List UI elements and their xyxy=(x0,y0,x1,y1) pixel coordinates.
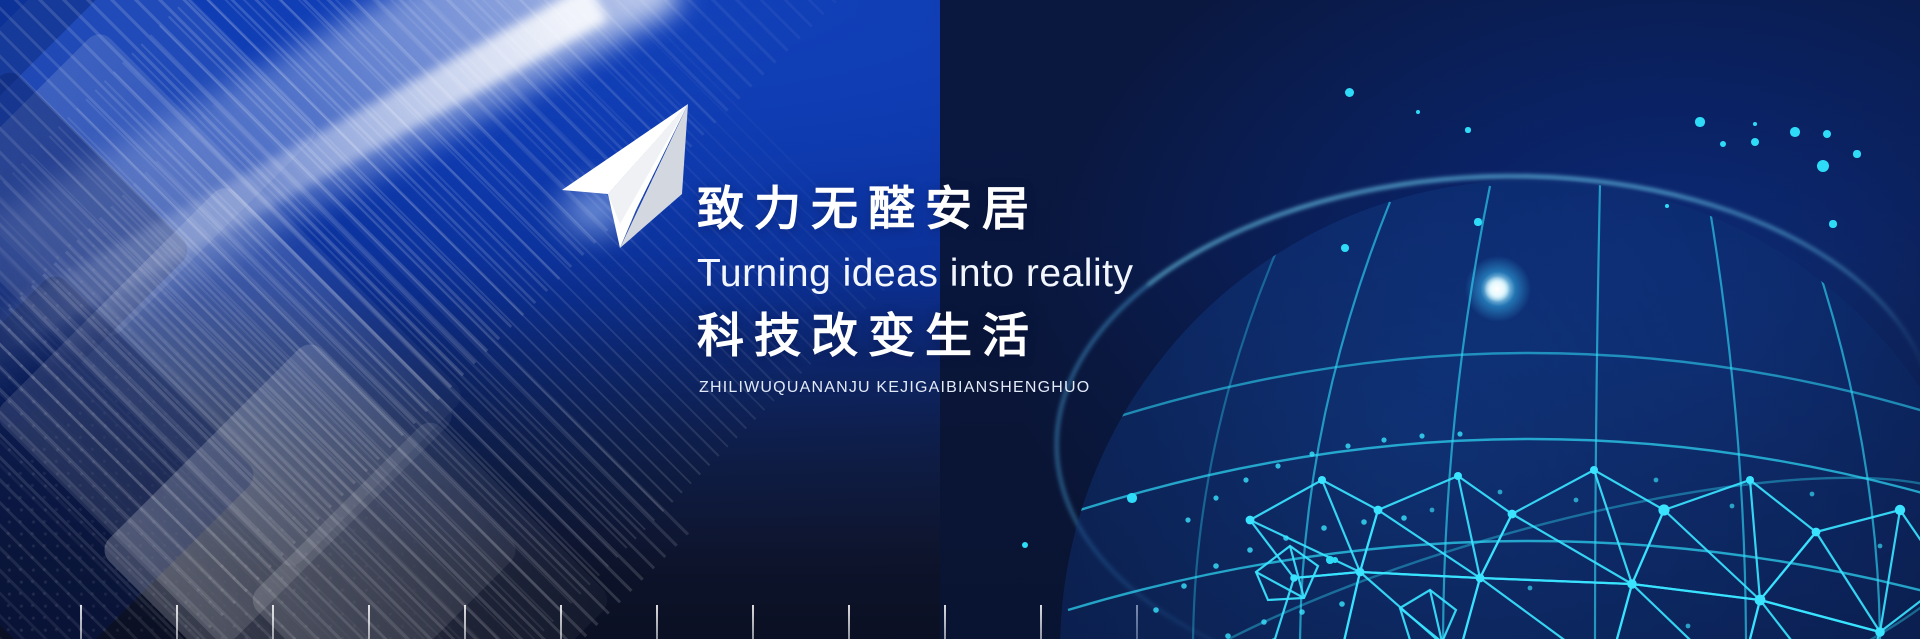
banner-copy: 致力无醛安居 Turning ideas into reality 科技改变生活… xyxy=(697,182,1417,397)
page-subtitle: 科技改变生活 xyxy=(697,309,1417,363)
floating-dot xyxy=(1345,88,1354,97)
tick-mark xyxy=(656,605,658,639)
floating-dot xyxy=(1695,117,1704,126)
tick-mark xyxy=(848,605,850,639)
tick-mark xyxy=(752,605,754,639)
tick-mark xyxy=(176,605,178,639)
floating-dot xyxy=(1465,127,1470,132)
tick-mark xyxy=(944,605,946,639)
floating-dot xyxy=(1751,138,1759,146)
tick-mark xyxy=(368,605,370,639)
tagline-english: Turning ideas into reality xyxy=(697,251,1417,298)
tick-mark xyxy=(80,605,82,639)
floating-dot xyxy=(1474,218,1481,225)
lens-flare-core-icon xyxy=(1484,276,1510,302)
floating-dot xyxy=(1127,493,1136,502)
floating-dot xyxy=(1829,220,1836,227)
page-title: 致力无醛安居 xyxy=(697,182,1417,236)
floating-dot xyxy=(1853,150,1860,157)
floating-dot xyxy=(1332,557,1338,563)
tick-mark xyxy=(464,605,466,639)
floating-dot xyxy=(1790,127,1800,137)
tick-mark xyxy=(560,605,562,639)
tick-mark xyxy=(272,605,274,639)
tick-mark xyxy=(1040,605,1042,639)
paper-plane-icon xyxy=(550,98,690,248)
pinyin-caption: ZHILIWUQUANANJU KEJIGAIBIANSHENGHUO xyxy=(699,379,1417,397)
hero-banner: 致力无醛安居 Turning ideas into reality 科技改变生活… xyxy=(0,0,1920,639)
floating-dot xyxy=(1665,204,1669,208)
bottom-tick-marks xyxy=(0,605,1150,639)
